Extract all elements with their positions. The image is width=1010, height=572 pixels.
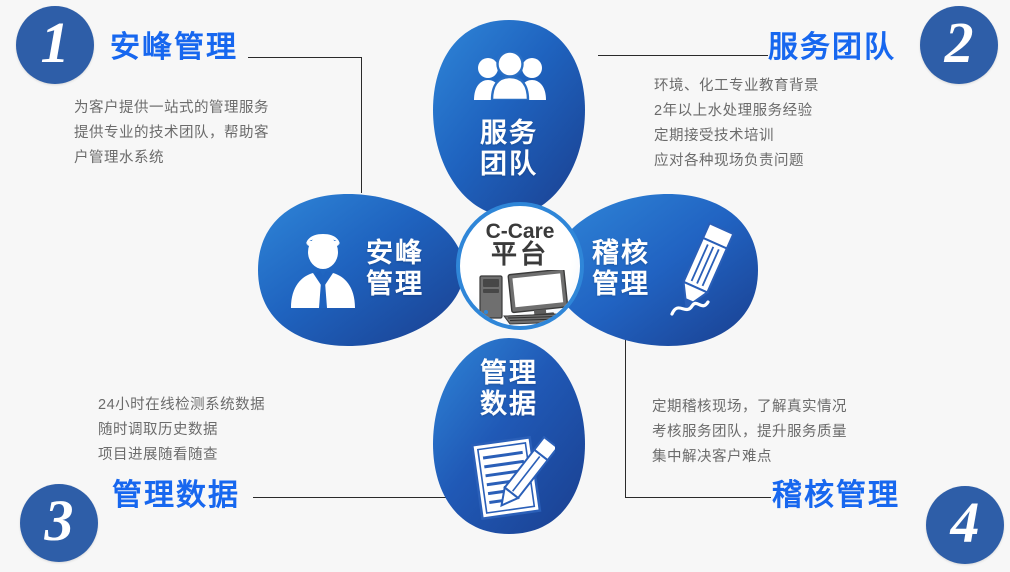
section-body-line: 户管理水系统 [74,146,269,171]
connector-line-4-vertical [625,340,626,498]
section-body-line: 考核服务团队，提升服务质量 [652,420,847,445]
badge-number: 3 [45,492,74,550]
petal-label-line2: 管理 [366,269,424,299]
section-body-line: 为客户提供一站式的管理服务 [74,96,269,121]
section-body-line: 定期稽核现场，了解真实情况 [652,395,847,420]
hub-title: C-Care 平台 [460,220,580,266]
petal-label-line1: 稽核 [592,238,650,268]
petal-label-management-data: 管理 数据 [433,358,585,420]
section-badge-2: 2 [920,6,998,84]
hub-title-cn: 平台 [460,243,580,266]
section-body-3: 24小时在线检测系统数据 随时调取历史数据 项目进展随看随查 [98,393,265,468]
section-body-line: 集中解决客户难点 [652,445,847,470]
infographic-canvas: 1 2 3 4 安峰管理 服务团队 管理数据 稽核管理 为客户提供一站式的管理服… [0,0,1010,572]
people-group-icon [473,52,547,100]
section-body-1: 为客户提供一站式的管理服务 提供专业的技术团队，帮助客 户管理水系统 [74,96,269,171]
section-body-line: 24小时在线检测系统数据 [98,393,265,418]
petal-management-data[interactable]: 管理 数据 [433,336,585,536]
badge-number: 2 [945,14,974,72]
section-body-line: 应对各种现场负责问题 [654,149,819,174]
connector-line-2-horizontal [598,55,768,56]
petal-label-line2: 团队 [480,149,538,179]
badge-number: 4 [951,494,980,552]
petal-label-line1: 服务 [480,118,538,148]
section-title-3: 管理数据 [112,470,240,514]
connector-line-1-horizontal [248,57,362,58]
section-title-4: 稽核管理 [772,470,900,514]
section-body-line: 2年以上水处理服务经验 [654,99,819,124]
petal-label-line2: 管理 [592,269,650,299]
connector-line-3-horizontal [253,497,451,498]
section-body-line: 随时调取历史数据 [98,418,265,443]
petal-label-line2: 数据 [480,389,538,419]
section-body-line: 项目进展随看随查 [98,443,265,468]
desktop-computer-icon [478,270,574,326]
section-title-2: 服务团队 [768,22,896,66]
section-badge-1: 1 [16,6,94,84]
petal-anfeng-management[interactable]: 安峰 管理 [256,194,466,346]
pencil-icon [668,222,746,320]
connector-line-1-vertical [361,57,362,193]
clipboard-pencil-icon [471,432,555,522]
petal-label-line1: 管理 [480,358,538,388]
section-badge-4: 4 [926,486,1004,564]
section-title-1: 安峰管理 [110,22,238,66]
connector-line-4-horizontal [625,497,771,498]
petal-label-service-team: 服务 团队 [433,118,585,180]
petal-service-team[interactable]: 服务 团队 [433,18,585,218]
section-body-line: 提供专业的技术团队，帮助客 [74,121,269,146]
section-body-line: 环境、化工专业教育背景 [654,74,819,99]
badge-number: 1 [41,14,70,72]
section-body-2: 环境、化工专业教育背景 2年以上水处理服务经验 定期接受技术培训 应对各种现场负… [654,74,819,174]
petal-label-anfeng-management: 安峰 管理 [340,238,450,300]
center-hub[interactable]: C-Care 平台 [456,202,584,330]
section-badge-3: 3 [20,484,98,562]
section-body-line: 定期接受技术培训 [654,124,819,149]
section-body-4: 定期稽核现场，了解真实情况 考核服务团队，提升服务质量 集中解决客户难点 [652,395,847,470]
petal-label-line1: 安峰 [366,238,424,268]
